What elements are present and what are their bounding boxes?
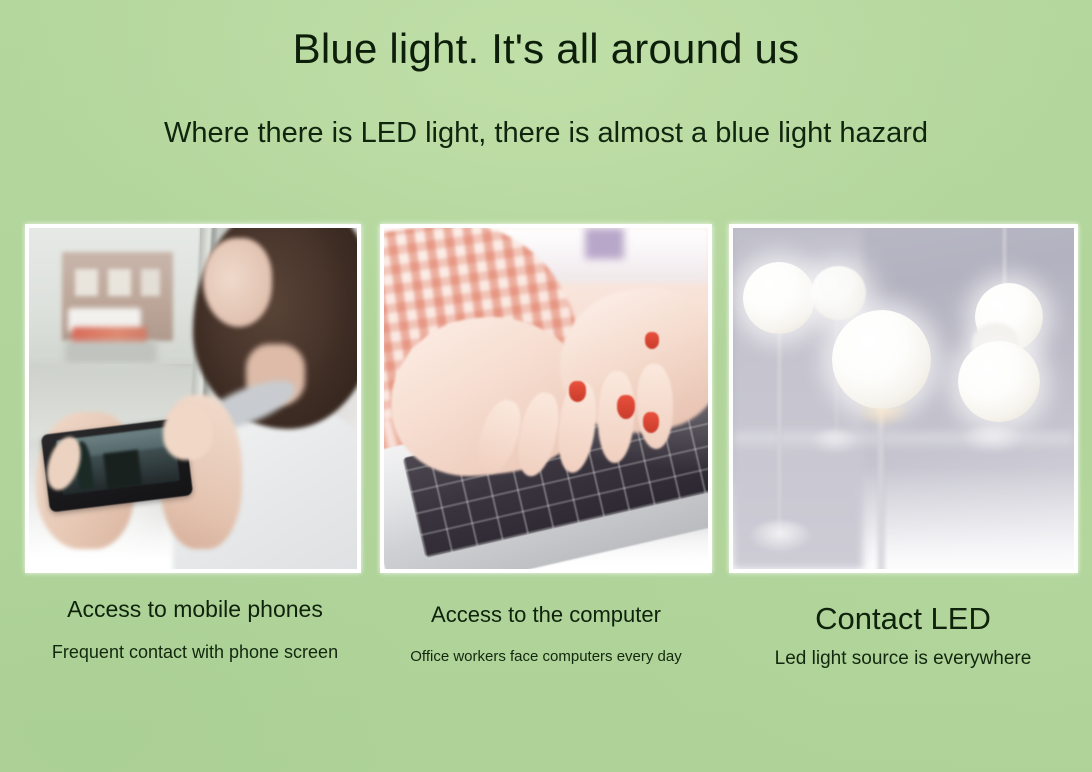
photo-frame [729,224,1078,573]
photo-frame [380,224,712,573]
lamp-base [750,521,811,552]
building-window [108,269,131,296]
building-window [75,269,98,296]
caption-led: Contact LED Led light source is everywhe… [728,601,1078,669]
caption-title-computer: Access to the computer [378,602,714,627]
background-object [585,228,624,259]
led-globe-lamp [743,262,815,334]
pendant-cord [1002,228,1007,289]
caption-title-led: Contact LED [728,601,1078,637]
led-globe-lamp-main [832,310,931,409]
shelf-highlight [733,433,1074,450]
red-fingernail [643,412,659,432]
person-fingers [163,405,212,460]
photo-mobile-phones [29,228,357,569]
person-face [203,238,272,327]
led-pendant-lamp [958,341,1040,423]
parked-car-grey [65,341,157,365]
caption-title-mobile-phones: Access to mobile phones [25,596,365,622]
led-globe-lamp [811,266,866,321]
lamp-stem [776,327,784,538]
image-panel-led[interactable] [729,224,1078,573]
caption-sub-computer: Office workers face computers every day [378,648,714,665]
red-fingernail [617,395,635,419]
caption-computer: Access to the computer Office workers fa… [378,602,714,666]
image-panel-mobile-phones[interactable] [25,224,361,573]
caption-sub-mobile-phones: Frequent contact with phone screen [25,642,365,663]
photo-frame [25,224,361,573]
lamp-base [811,429,859,453]
photo-led-lamps [733,228,1074,569]
caption-sub-led: Led light source is everywhere [728,648,1078,670]
caption-mobile-phones: Access to mobile phones Frequent contact… [25,596,365,663]
building-window [141,269,161,296]
lamp-base [961,426,1022,453]
lamp-stem [876,405,886,569]
image-panel-computer[interactable] [380,224,712,573]
photo-computer [384,228,708,569]
screen-house [102,449,142,489]
